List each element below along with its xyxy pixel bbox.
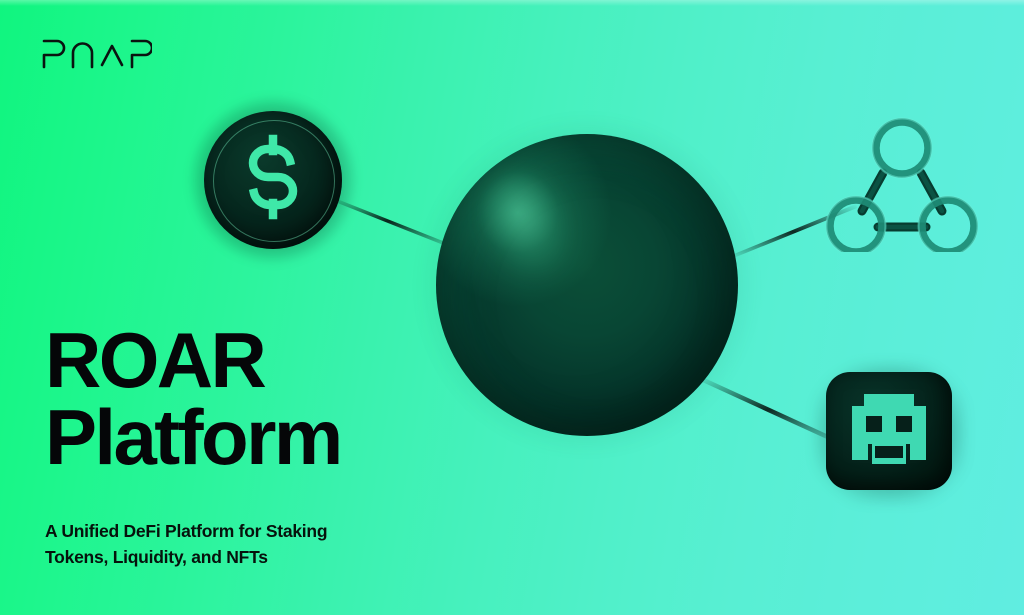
- subtitle-line-2: Tokens, Liquidity, and NFTs: [45, 545, 465, 571]
- network-triangle-icon: [826, 112, 978, 252]
- page-subtitle: A Unified DeFi Platform for Staking Toke…: [45, 519, 465, 570]
- dollar-sign-icon: [204, 111, 342, 249]
- subtitle-line-1: A Unified DeFi Platform for Staking: [45, 519, 465, 545]
- hero-banner: ROAR Platform A Unified DeFi Platform fo…: [0, 0, 1024, 615]
- roar-logo[interactable]: [40, 34, 152, 72]
- liquidity-network-icon[interactable]: [826, 112, 978, 252]
- roar-wordmark-icon: [40, 34, 152, 72]
- top-edge-sheen: [0, 0, 1024, 6]
- dollar-coin-icon[interactable]: [204, 111, 342, 249]
- pixel-skull-icon: [826, 372, 952, 490]
- nft-pixel-skull-icon[interactable]: [826, 372, 952, 490]
- page-title: ROAR Platform: [45, 322, 515, 476]
- title-line-1: ROAR: [45, 322, 515, 399]
- title-line-2: Platform: [45, 399, 515, 476]
